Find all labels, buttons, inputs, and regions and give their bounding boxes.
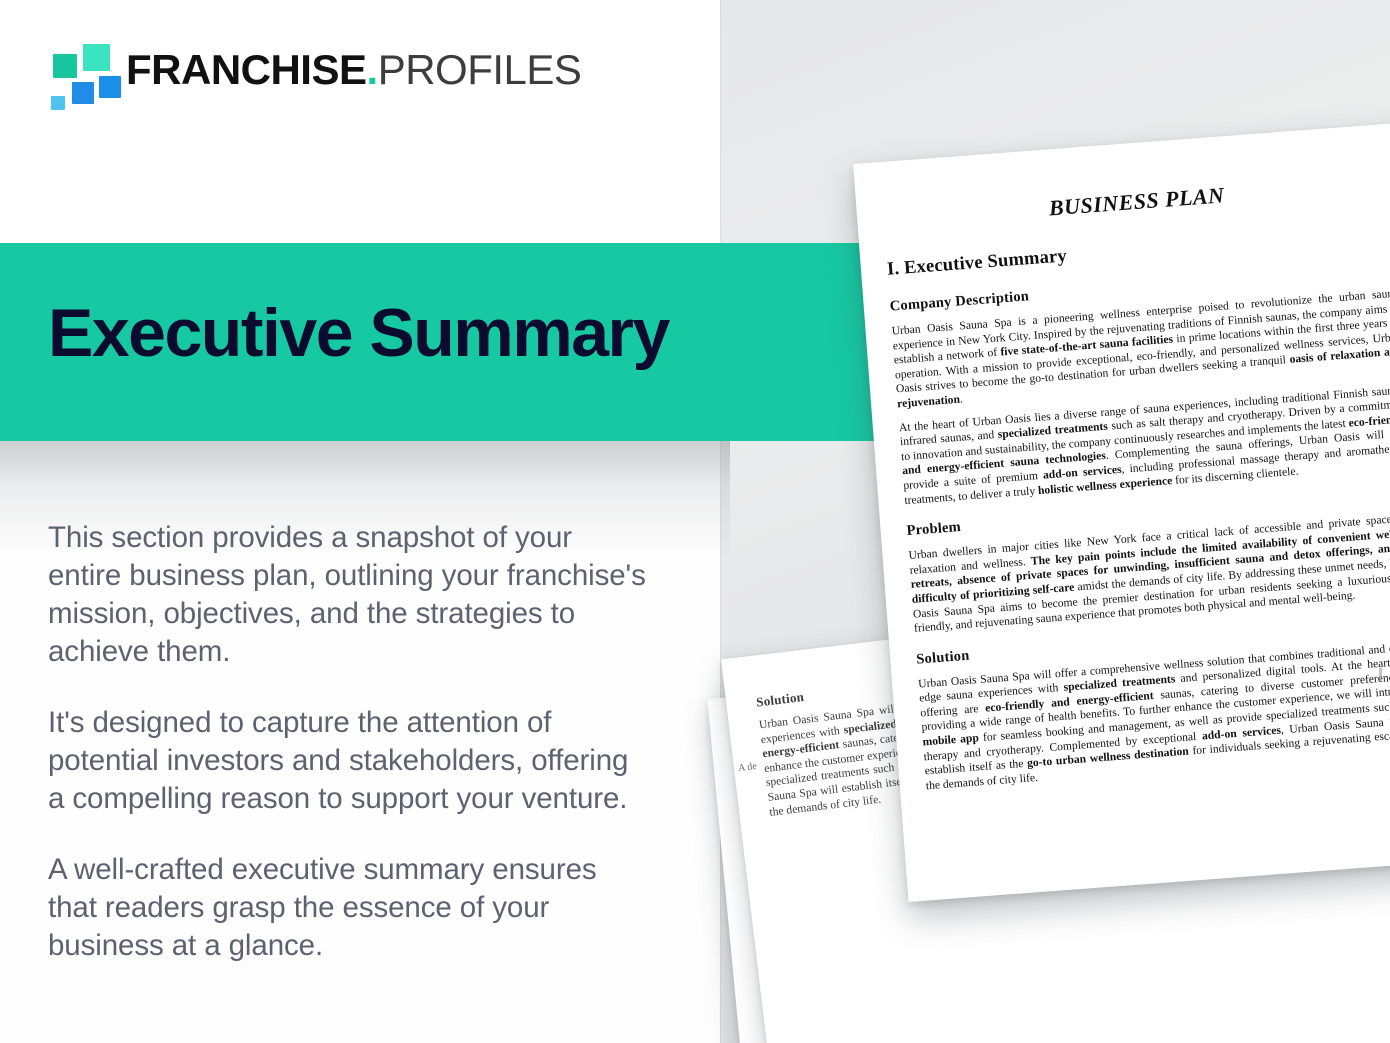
logo-wordmark: FRANCHISE.PROFILES bbox=[126, 49, 581, 91]
document-subsection-company-description: Company Description Urban Oasis Sauna Sp… bbox=[889, 261, 1390, 509]
body-paragraph-2: It's designed to capture the attention o… bbox=[48, 704, 648, 818]
brand-logo[interactable]: FRANCHISE.PROFILES bbox=[46, 44, 581, 96]
page-title: Executive Summary bbox=[48, 299, 669, 367]
document-title: BUSINESS PLAN bbox=[882, 170, 1390, 234]
right-edge-marker bbox=[1379, 668, 1382, 682]
logo-square-2 bbox=[83, 44, 110, 71]
logo-separator-dot: . bbox=[367, 46, 378, 93]
logo-word-profiles: PROFILES bbox=[378, 46, 582, 93]
business-plan-document: BUSINESS PLAN I. Executive Summary Compa… bbox=[853, 122, 1390, 902]
logo-square-3 bbox=[99, 76, 121, 98]
logo-square-5 bbox=[51, 96, 65, 110]
document-subsection-solution: Solution Urban Oasis Sauna Spa will offe… bbox=[916, 613, 1390, 793]
logo-squares-icon bbox=[46, 44, 104, 96]
slide-canvas: FRANCHISE.PROFILES Executive Summary Thi… bbox=[0, 0, 1390, 1043]
document-subsection-problem: Problem Urban dwellers in major cities l… bbox=[906, 485, 1390, 636]
body-paragraph-1: This section provides a snapshot of your… bbox=[48, 519, 648, 671]
logo-square-4 bbox=[72, 82, 94, 104]
logo-word-franchise: FRANCHISE bbox=[126, 46, 367, 93]
body-paragraph-3: A well-crafted executive summary ensures… bbox=[48, 851, 648, 965]
document-stack: destination for individuals seeking a re… bbox=[700, 120, 1390, 1043]
document-sheet-front: BUSINESS PLAN I. Executive Summary Compa… bbox=[853, 122, 1390, 902]
logo-square-1 bbox=[53, 54, 77, 78]
body-copy: This section provides a snapshot of your… bbox=[48, 519, 648, 965]
